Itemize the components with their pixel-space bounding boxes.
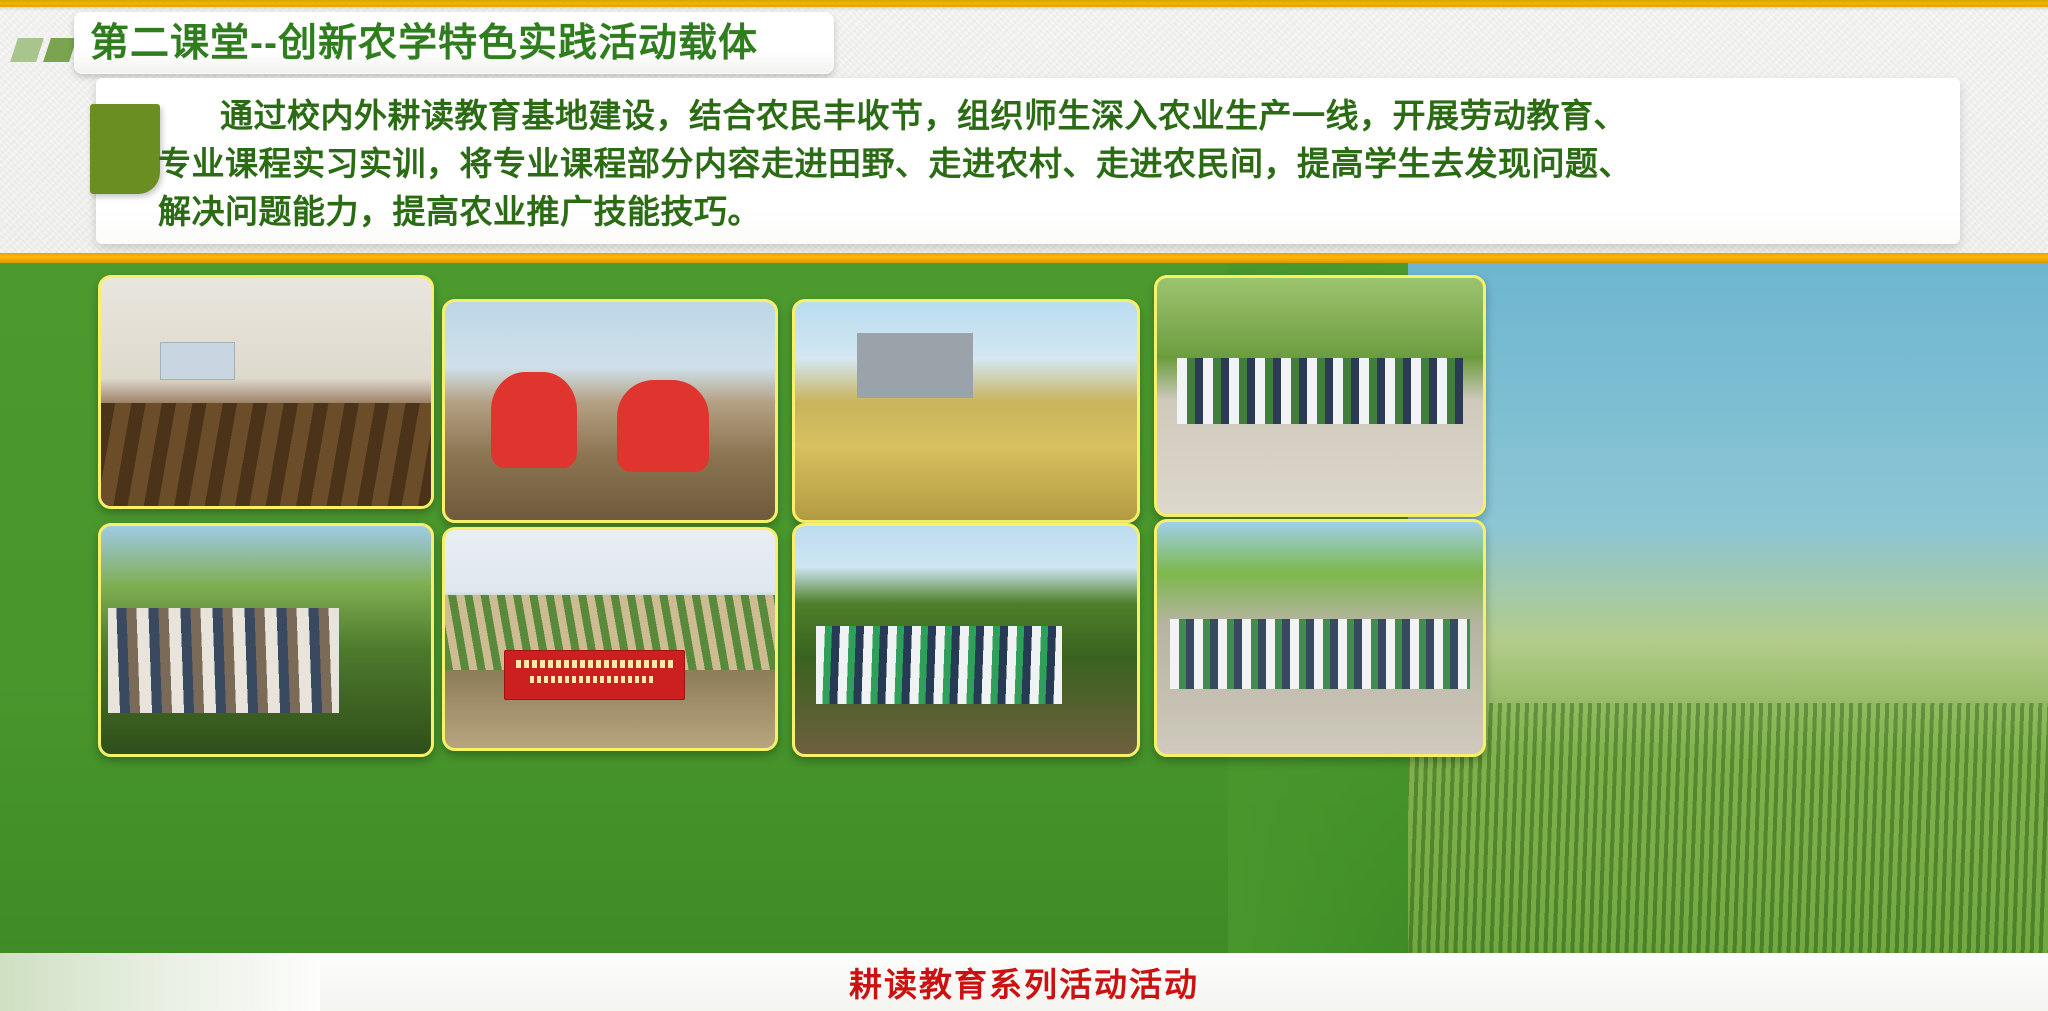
photo-7[interactable] bbox=[792, 523, 1140, 757]
photo-6[interactable] bbox=[442, 527, 778, 751]
photo-1-screen bbox=[160, 342, 235, 380]
photo-3-building bbox=[857, 333, 973, 398]
photo-4-crowd bbox=[1177, 358, 1464, 424]
square-mid-icon bbox=[43, 38, 77, 62]
photo-grid bbox=[98, 275, 1478, 947]
gallery-caption: 耕读教育系列活动活动 bbox=[0, 953, 2048, 1011]
photo-1-detail bbox=[101, 403, 431, 506]
title-pill: 第二课堂--创新农学特色实践活动载体 bbox=[74, 12, 834, 74]
photo-2-person-a bbox=[491, 372, 577, 468]
title-row: 第二课堂--创新农学特色实践活动载体 bbox=[0, 12, 1100, 76]
photo-6-banner-line-1 bbox=[516, 660, 673, 669]
body-paragraph: 通过校内外耕读教育基地建设，结合农民丰收节，组织师生深入农业生产一线，开展劳动教… bbox=[158, 92, 1958, 236]
photo-4[interactable] bbox=[1154, 275, 1486, 517]
photo-1[interactable] bbox=[98, 275, 434, 509]
body-line-3: 解决问题能力，提高农业推广技能技巧。 bbox=[158, 188, 1958, 236]
body-line-1: 通过校内外耕读教育基地建设，结合农民丰收节，组织师生深入农业生产一线，开展劳动教… bbox=[158, 92, 1958, 140]
photo-2[interactable] bbox=[442, 299, 778, 523]
photo-8[interactable] bbox=[1154, 519, 1486, 757]
top-gold-rule bbox=[0, 0, 2048, 7]
gold-divider-band bbox=[0, 253, 2048, 263]
photo-8-crowd bbox=[1170, 619, 1470, 689]
top-rule-shadow bbox=[0, 7, 2048, 11]
page-title: 第二课堂--创新农学特色实践活动载体 bbox=[90, 24, 758, 63]
photo-6-banner-line-2 bbox=[530, 676, 655, 683]
caption-band: 耕读教育系列活动活动 bbox=[0, 953, 2048, 1011]
photo-2-person-b bbox=[617, 380, 709, 472]
photo-5[interactable] bbox=[98, 523, 434, 757]
square-light-icon bbox=[10, 38, 44, 62]
background-field-photo bbox=[1408, 263, 2048, 953]
photo-gallery-section bbox=[0, 263, 2048, 953]
photo-5-crowd bbox=[108, 608, 339, 713]
photo-6-red-banner bbox=[504, 650, 684, 700]
body-line-2: 专业课程实习实训，将专业课程部分内容走进田野、走进农村、走进农民间，提高学生去发… bbox=[158, 140, 1958, 188]
photo-7-crowd bbox=[816, 626, 1062, 704]
body-accent-tab bbox=[90, 104, 160, 194]
photo-3[interactable] bbox=[792, 299, 1140, 523]
